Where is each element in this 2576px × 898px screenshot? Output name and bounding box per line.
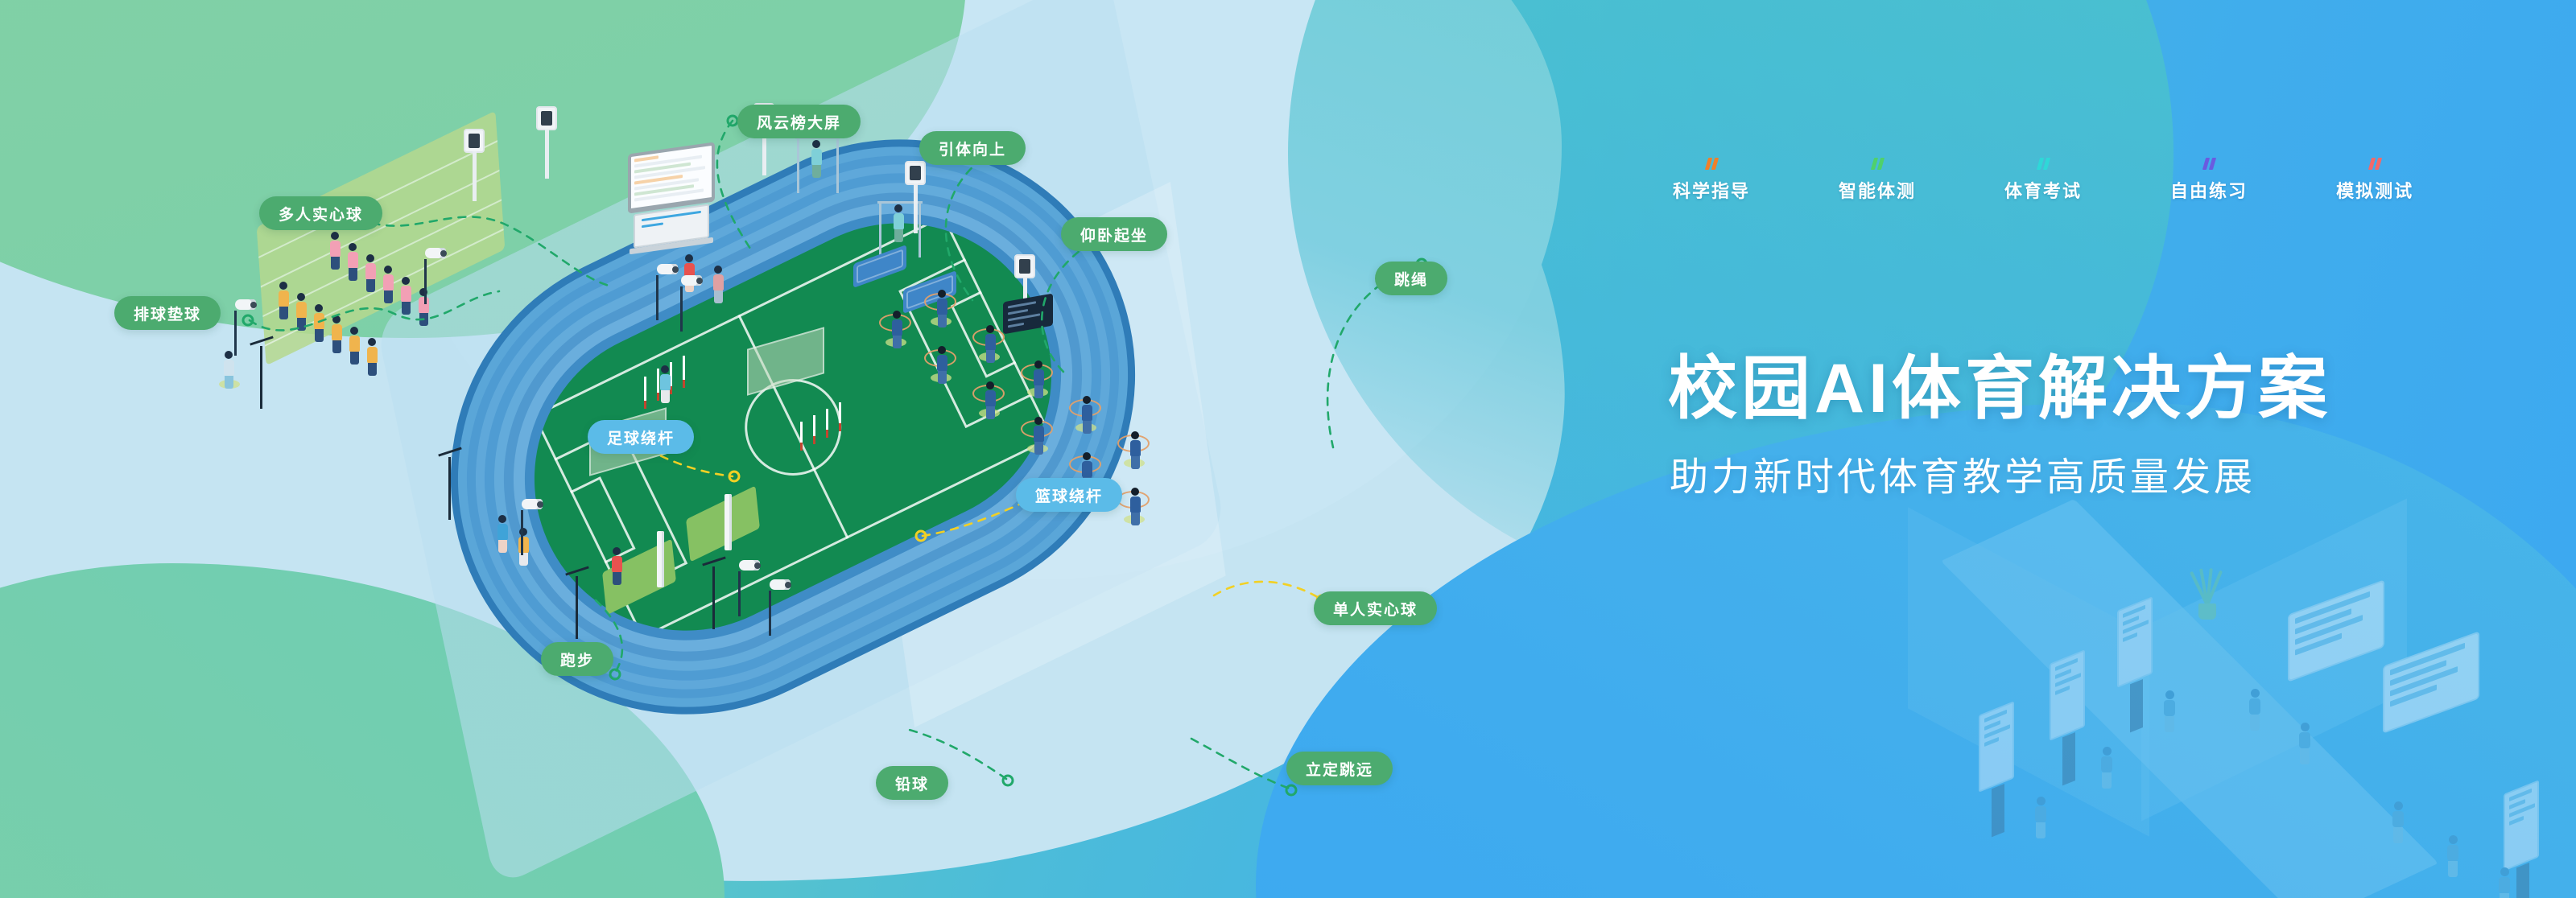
callout-leaderboard[interactable]: 风云榜大屏 bbox=[737, 105, 861, 138]
nav-item-mock-test[interactable]: 模拟测试 bbox=[2336, 158, 2413, 203]
callout-volleyball[interactable]: 排球垫球 bbox=[114, 296, 221, 330]
shotput-athlete bbox=[610, 547, 623, 585]
long-jump-post bbox=[724, 494, 732, 550]
measure-post bbox=[657, 531, 664, 587]
pullup-athlete-1 bbox=[810, 140, 823, 178]
callout-single-shotput[interactable]: 单人实心球 bbox=[1314, 591, 1437, 625]
callout-situp[interactable]: 仰卧起坐 bbox=[1061, 217, 1167, 251]
nav-label: 体育考试 bbox=[2004, 177, 2082, 203]
callout-running[interactable]: 跑步 bbox=[541, 642, 613, 676]
callout-multi-shotput[interactable]: 多人实心球 bbox=[259, 196, 382, 230]
camera-post-1 bbox=[1014, 254, 1035, 278]
nav-label: 智能体测 bbox=[1839, 177, 1916, 203]
nav-item-smart-fitness-test[interactable]: 智能体测 bbox=[1839, 158, 1916, 203]
callout-basketball-slalom[interactable]: 篮球绕杆 bbox=[1016, 478, 1122, 512]
leaderboard-screen bbox=[628, 142, 715, 213]
callout-football-slalom[interactable]: 足球绕杆 bbox=[588, 420, 694, 454]
hero-banner: 多人实心球 排球垫球 风云榜大屏 引体向上 仰卧起坐 跳绳 足球绕杆 篮球绕杆 … bbox=[0, 0, 2576, 898]
nav-label: 自由练习 bbox=[2170, 177, 2248, 203]
display-post-1 bbox=[536, 106, 557, 130]
nav-item-pe-exam[interactable]: 体育考试 bbox=[2004, 158, 2082, 203]
callout-shotput[interactable]: 铅球 bbox=[876, 766, 948, 800]
pullup-athlete-2 bbox=[892, 204, 905, 242]
football-player bbox=[658, 365, 671, 403]
feature-nav: 科学指导 智能体测 体育考试 自由练习 bbox=[1673, 158, 2413, 203]
double-slash-icon bbox=[2370, 158, 2380, 170]
callout-pullup[interactable]: 引体向上 bbox=[919, 131, 1026, 165]
hero-content-panel: 科学指导 智能体测 体育考试 自由练习 bbox=[1650, 0, 2576, 898]
volleyball-player bbox=[222, 351, 235, 389]
runner-4 bbox=[517, 528, 530, 566]
page-subtitle: 助力新时代体育教学高质量发展 bbox=[1670, 459, 2256, 497]
double-slash-icon bbox=[1707, 158, 1717, 170]
stadium-illustration bbox=[306, 97, 1336, 805]
nav-label: 科学指导 bbox=[1673, 177, 1750, 203]
callout-standing-jump[interactable]: 立定跳远 bbox=[1286, 752, 1393, 785]
runner-2 bbox=[712, 266, 724, 303]
leaderboard-kiosk bbox=[628, 148, 715, 249]
double-slash-icon bbox=[2038, 158, 2049, 170]
nav-label: 模拟测试 bbox=[2336, 177, 2413, 203]
page-title: 校园AI体育解决方案 bbox=[1668, 354, 2331, 423]
runner-3 bbox=[496, 515, 509, 553]
double-slash-icon bbox=[2204, 158, 2215, 170]
display-post-2 bbox=[464, 129, 485, 153]
callout-jumprope[interactable]: 跳绳 bbox=[1375, 262, 1447, 295]
nav-item-scientific-guidance[interactable]: 科学指导 bbox=[1673, 158, 1750, 203]
nav-item-free-practice[interactable]: 自由练习 bbox=[2170, 158, 2248, 203]
runner-1 bbox=[683, 254, 696, 292]
display-post-3 bbox=[905, 161, 926, 185]
double-slash-icon bbox=[1872, 158, 1883, 170]
